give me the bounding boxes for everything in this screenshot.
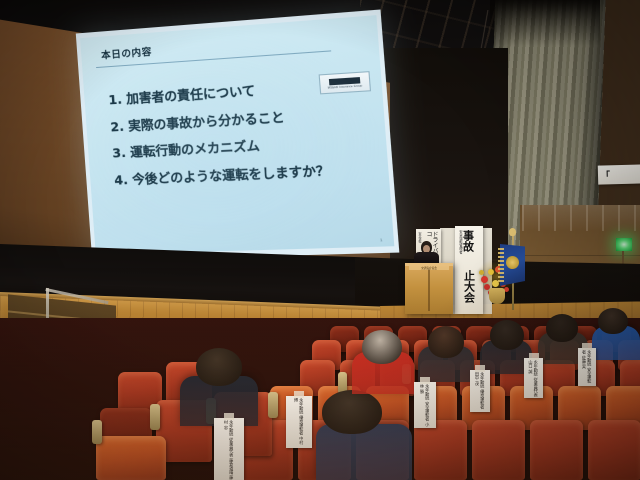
theater-seat xyxy=(530,420,583,480)
hall-wall-banner: 「知って xyxy=(598,164,640,184)
card-tape xyxy=(475,365,485,372)
podium-nameplate: 交通安全協会 xyxy=(409,266,449,270)
flag-fringe xyxy=(498,248,504,282)
reserved-seat-card-text: 永年勤続 安全運転者 佐藤 実 xyxy=(582,350,593,386)
stage-banner-right-subtext: 安全運転管理者 xyxy=(458,230,461,254)
theater-seat xyxy=(414,420,467,480)
reserved-seat-card-text: 永年勤続 優良運転者 田中 茂 xyxy=(475,372,486,412)
slide-item: 1. 加害者の責任について xyxy=(108,78,369,107)
card-tape xyxy=(529,353,539,360)
curtain-top-shadow xyxy=(490,0,600,46)
card-tape xyxy=(582,343,592,350)
audience-member-head xyxy=(196,348,242,386)
audience-member-head xyxy=(428,326,464,358)
flower-blossom xyxy=(479,270,484,275)
auditorium-photo: 「知って 本日の内容 MS&AD Insurance Group 1. 加害者の… xyxy=(0,0,640,480)
audience-member-head xyxy=(362,330,402,364)
theater-seat xyxy=(96,436,166,480)
podium-panel-seam xyxy=(428,268,430,311)
hall-wall-banner-text: 「知って xyxy=(601,167,640,184)
seat-armrest xyxy=(268,392,278,418)
reserved-seat-card: 永年勤続 従業員代表 藤倉道晴 藤村 忠 xyxy=(214,418,244,480)
projection-screen: 本日の内容 MS&AD Insurance Group 1. 加害者の責任につい… xyxy=(84,33,374,261)
slide-item: 3. 運転行動のメカニズム xyxy=(112,134,373,160)
reserved-seat-card-text: 永年勤続 安全運転者 小林 勝 xyxy=(420,384,431,428)
reserved-seat-card: 永年勤続 従業員代表 山口 誠 xyxy=(524,358,543,398)
card-tape xyxy=(294,391,304,398)
flower-blossom xyxy=(481,276,488,283)
balcony-railing xyxy=(522,205,640,231)
reserved-seat-card: 永年勤続 優良運転者 中村 博 xyxy=(286,396,312,448)
seat-armrest xyxy=(150,404,160,430)
audience-member-head xyxy=(546,314,578,342)
reserved-seat-card-text: 永年勤続 従業員代表 藤倉道晴 藤村 忠 xyxy=(224,420,235,480)
theater-seat xyxy=(588,420,640,480)
theater-seat xyxy=(472,420,525,480)
flag-finial-icon xyxy=(509,228,516,236)
audience-member-head xyxy=(598,308,628,334)
reserved-seat-card-text: 永年勤続 優良運転者 中村 博 xyxy=(294,398,305,448)
stage-banner-right-text: 事故 xyxy=(462,230,474,252)
card-tape xyxy=(224,413,234,420)
seat-armrest xyxy=(92,420,102,444)
reserved-seat-card: 永年勤続 安全運転者 佐藤 実 xyxy=(578,348,596,386)
flag-emblem-icon xyxy=(506,256,519,269)
reserved-seat-card: 永年勤続 安全運転者 小林 勝 xyxy=(414,382,436,428)
flower-vase xyxy=(489,288,505,304)
slide-surface: 本日の内容 MS&AD Insurance Group 1. 加害者の責任につい… xyxy=(80,15,394,255)
slide-item: 4. 今後どのような運転をしますか？ xyxy=(114,162,375,187)
stage-banner-left-subtext: 安全運転 xyxy=(418,232,421,242)
reserved-seat-card-text: 永年勤続 従業員代表 山口 誠 xyxy=(528,360,539,398)
flower-blossom xyxy=(488,269,494,275)
audience-member-head xyxy=(490,320,524,350)
card-tape xyxy=(420,377,430,384)
slide-agenda-list: 1. 加害者の責任について 2. 実際の事故から分かること 3. 運転行動のメカ… xyxy=(108,78,376,201)
emergency-exit-sign-icon xyxy=(616,238,632,251)
slide-item: 2. 実際の事故から分かること xyxy=(110,106,371,134)
audience-member-head xyxy=(322,390,382,434)
slide-page-number: 1 xyxy=(380,237,383,242)
reserved-seat-card: 永年勤続 優良運転者 田中 茂 xyxy=(470,370,490,412)
stage-banner-right-text2: 止大会 xyxy=(463,270,475,303)
